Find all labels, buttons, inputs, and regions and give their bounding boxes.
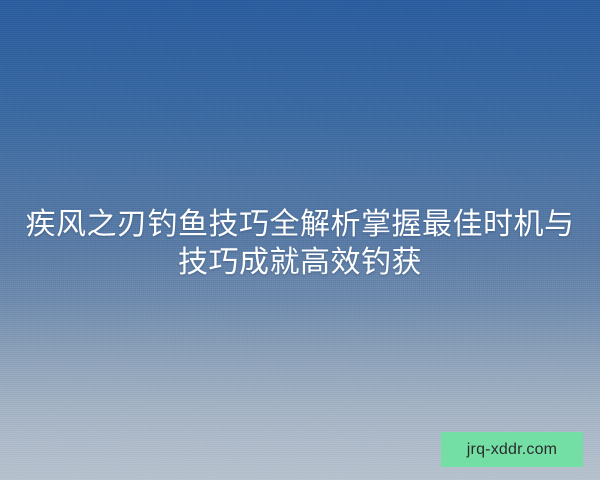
- page-title: 疾风之刃钓鱼技巧全解析掌握最佳时机与 技巧成就高效钓获: [0, 206, 600, 282]
- site-domain-label: jrq-xddr.com: [467, 442, 557, 458]
- cover-image-canvas: 疾风之刃钓鱼技巧全解析掌握最佳时机与 技巧成就高效钓获 jrq-xddr.com: [0, 0, 600, 480]
- site-domain-badge[interactable]: jrq-xddr.com: [441, 432, 583, 467]
